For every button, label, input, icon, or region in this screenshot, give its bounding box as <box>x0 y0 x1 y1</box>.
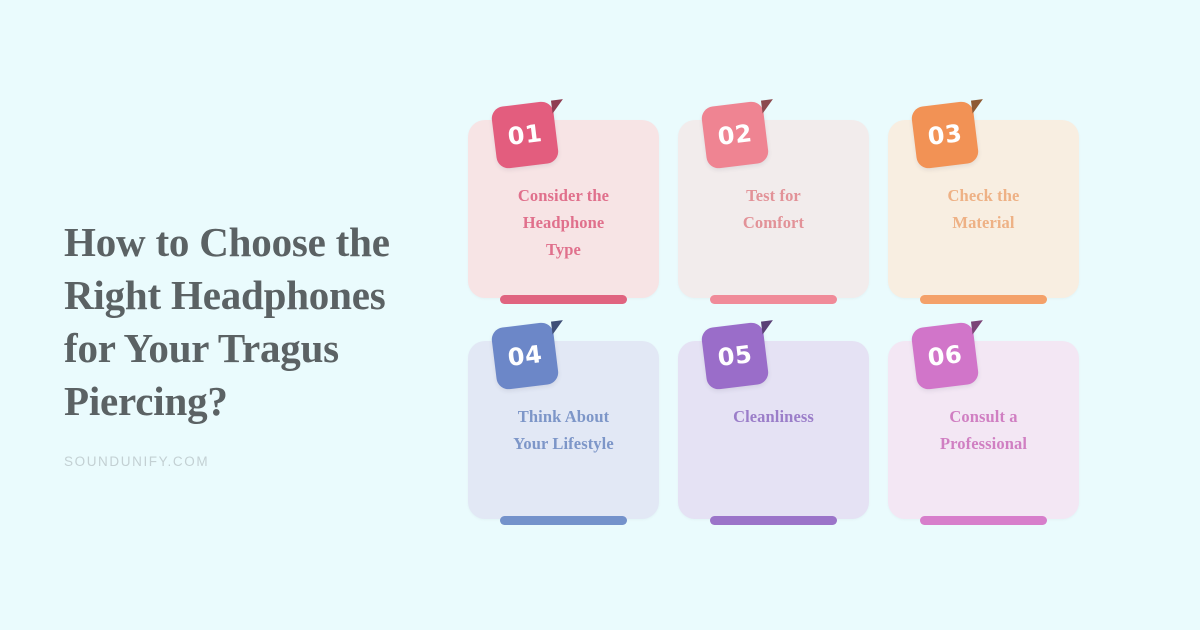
step-card-05[interactable]: 05 Cleanliness <box>678 341 869 519</box>
badge-fold-corner-icon <box>551 99 564 113</box>
step-number-label: 05 <box>716 340 754 372</box>
step-accent-bar-02 <box>710 295 837 304</box>
steps-grid: 01 Consider the Headphone Type 02 Test f… <box>468 120 1080 519</box>
step-badge-02: 02 <box>700 100 769 169</box>
step-card-06[interactable]: 06 Consult a Professional <box>888 341 1079 519</box>
step-number-label: 02 <box>716 119 754 151</box>
step-title-04: Think About Your Lifestyle <box>480 403 647 457</box>
step-card-01[interactable]: 01 Consider the Headphone Type <box>468 120 659 298</box>
step-accent-bar-01 <box>500 295 627 304</box>
step-title-01: Consider the Headphone Type <box>480 182 647 263</box>
step-badge-06: 06 <box>910 321 979 390</box>
step-number-label: 06 <box>926 340 964 372</box>
step-title-03: Check the Material <box>900 182 1067 236</box>
badge-fold-corner-icon <box>551 320 564 334</box>
step-card-02[interactable]: 02 Test for Comfort <box>678 120 869 298</box>
step-accent-bar-03 <box>920 295 1047 304</box>
step-badge-03: 03 <box>910 100 979 169</box>
step-accent-bar-05 <box>710 516 837 525</box>
poster-canvas: How to Choose the Right Headphones for Y… <box>0 0 1200 630</box>
badge-fold-corner-icon <box>971 320 984 334</box>
step-card-04[interactable]: 04 Think About Your Lifestyle <box>468 341 659 519</box>
badge-fold-corner-icon <box>971 99 984 113</box>
step-accent-bar-04 <box>500 516 627 525</box>
step-number-label: 03 <box>926 119 964 151</box>
step-number-label: 01 <box>506 119 544 151</box>
site-url-label: SOUNDUNIFY.COM <box>64 454 444 469</box>
left-text-column: How to Choose the Right Headphones for Y… <box>64 216 444 469</box>
step-title-05: Cleanliness <box>690 403 857 430</box>
step-badge-04: 04 <box>490 321 559 390</box>
step-card-03[interactable]: 03 Check the Material <box>888 120 1079 298</box>
badge-fold-corner-icon <box>761 99 774 113</box>
step-accent-bar-06 <box>920 516 1047 525</box>
page-title: How to Choose the Right Headphones for Y… <box>64 216 444 428</box>
step-title-06: Consult a Professional <box>900 403 1067 457</box>
step-title-02: Test for Comfort <box>690 182 857 236</box>
badge-fold-corner-icon <box>761 320 774 334</box>
step-badge-01: 01 <box>490 100 559 169</box>
step-number-label: 04 <box>506 340 544 372</box>
step-badge-05: 05 <box>700 321 769 390</box>
